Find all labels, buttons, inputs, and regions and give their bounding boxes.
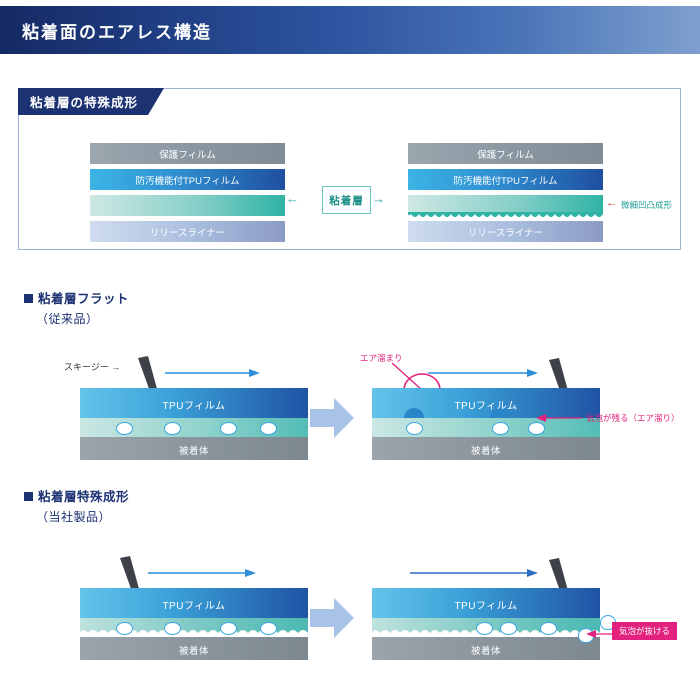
trapped-air-callout-label: 気泡が残る（エア溜り）	[586, 412, 680, 424]
panel-conventional-after: TPUフィルム 被着体	[372, 388, 600, 460]
escaping-air-badge: 気泡が抜ける	[612, 622, 677, 640]
air-bubble-icon	[260, 622, 277, 635]
layer-label: リリースライナー	[150, 225, 225, 239]
air-bubble-icon	[492, 422, 509, 435]
substrate-label: 被着体	[80, 443, 308, 457]
adhesive-layer-callout: 粘着層	[322, 186, 371, 214]
layer-label: 防汚機能付TPUフィルム	[135, 173, 239, 187]
layer-stack-textured: 保護フィルム 防汚機能付TPUフィルム リリースライナー	[408, 143, 603, 247]
panel-textured-before: TPUフィルム 被着体	[80, 588, 308, 660]
escaping-air-arrow-icon	[586, 628, 612, 640]
layer-adhesive-flat	[90, 195, 285, 216]
flow-arrow-icon	[165, 367, 260, 379]
layer-stack-conventional: 保護フィルム 防汚機能付TPUフィルム リリースライナー	[90, 143, 285, 247]
trapped-air-arrow-icon	[536, 412, 582, 424]
layer-release-liner: リリースライナー	[90, 221, 285, 242]
layer-label: 保護フィルム	[159, 147, 216, 161]
section-2-heading: 粘着層特殊成形	[24, 486, 129, 505]
bullet-square-icon	[24, 294, 33, 303]
air-bubble-icon	[116, 422, 133, 435]
card-tab-label: 粘着層の特殊成形	[30, 92, 138, 111]
tpu-film-layer: TPUフィルム	[80, 588, 308, 618]
page-title: 粘着面のエアレス構造	[22, 18, 212, 43]
substrate-layer: 被着体	[80, 437, 308, 460]
substrate-layer: 被着体	[372, 437, 600, 460]
layer-label: 保護フィルム	[477, 147, 534, 161]
substrate-label: 被着体	[372, 443, 600, 457]
section-1-heading: 粘着層フラット	[24, 288, 129, 307]
air-bubble-icon	[220, 422, 237, 435]
layer-protect-film: 保護フィルム	[90, 143, 285, 164]
air-bubble-icon	[476, 622, 493, 635]
substrate-label: 被着体	[372, 643, 600, 657]
card-tab: 粘着層の特殊成形	[18, 88, 164, 115]
section-1-sub: （従来品）	[36, 310, 99, 327]
substrate-label: 被着体	[80, 643, 308, 657]
flow-arrow-icon	[428, 367, 538, 379]
layer-release-liner: リリースライナー	[408, 221, 603, 242]
tpu-film-layer: TPUフィルム	[80, 388, 308, 418]
air-bubble-icon	[220, 622, 237, 635]
substrate-layer: 被着体	[372, 637, 600, 660]
micro-callout-label: 微細凹凸成形	[621, 199, 672, 211]
bullet-square-icon	[24, 492, 33, 501]
layer-label: リリースライナー	[468, 225, 543, 239]
section-1-heading-text: 粘着層フラット	[38, 292, 129, 306]
micro-callout-arrow-icon: ←	[606, 198, 617, 209]
squeegee-label: スキージー →	[64, 360, 120, 373]
adhesive-layer-callout-label: 粘着層	[329, 193, 364, 208]
flow-arrow-icon	[410, 567, 538, 579]
arrow-left-icon: ←	[286, 192, 299, 205]
layer-tpu-film: 防汚機能付TPUフィルム	[90, 169, 285, 190]
tpu-film-label: TPUフィルム	[372, 597, 600, 612]
air-bubble-icon	[500, 622, 517, 635]
air-bubble-icon	[164, 622, 181, 635]
section-2-sub: （当社製品）	[36, 508, 111, 525]
layer-tpu-film: 防汚機能付TPUフィルム	[408, 169, 603, 190]
tpu-film-layer: TPUフィルム	[372, 588, 600, 618]
tpu-film-label: TPUフィルム	[80, 397, 308, 412]
air-bubble-icon	[164, 422, 181, 435]
tpu-film-label: TPUフィルム	[80, 597, 308, 612]
panel-textured-after: TPUフィルム 被着体	[372, 588, 600, 660]
transition-arrow-icon	[310, 398, 354, 438]
layer-adhesive-textured	[408, 195, 603, 214]
layer-label: 防汚機能付TPUフィルム	[453, 173, 557, 187]
adhesive-layer-textured	[80, 618, 308, 637]
section-2-heading-text: 粘着層特殊成形	[38, 490, 129, 504]
transition-arrow-icon	[310, 598, 354, 638]
air-bubble-icon	[116, 622, 133, 635]
arrow-right-icon: →	[372, 192, 385, 205]
flow-arrow-icon	[148, 567, 256, 579]
air-bubble-icon	[260, 422, 277, 435]
page-header: 粘着面のエアレス構造	[0, 6, 700, 54]
tpu-film-label: TPUフィルム	[372, 397, 600, 412]
layer-protect-film: 保護フィルム	[408, 143, 603, 164]
air-bubble-icon	[540, 622, 557, 635]
substrate-layer: 被着体	[80, 637, 308, 660]
panel-conventional-before: TPUフィルム 被着体	[80, 388, 308, 460]
adhesive-layer-textured	[372, 618, 600, 637]
adhesive-layer-flat	[80, 418, 308, 437]
diagram-page: 粘着面のエアレス構造 粘着層の特殊成形 保護フィルム 防汚機能付TPUフィルム …	[0, 0, 700, 700]
air-bubble-icon	[406, 422, 423, 435]
